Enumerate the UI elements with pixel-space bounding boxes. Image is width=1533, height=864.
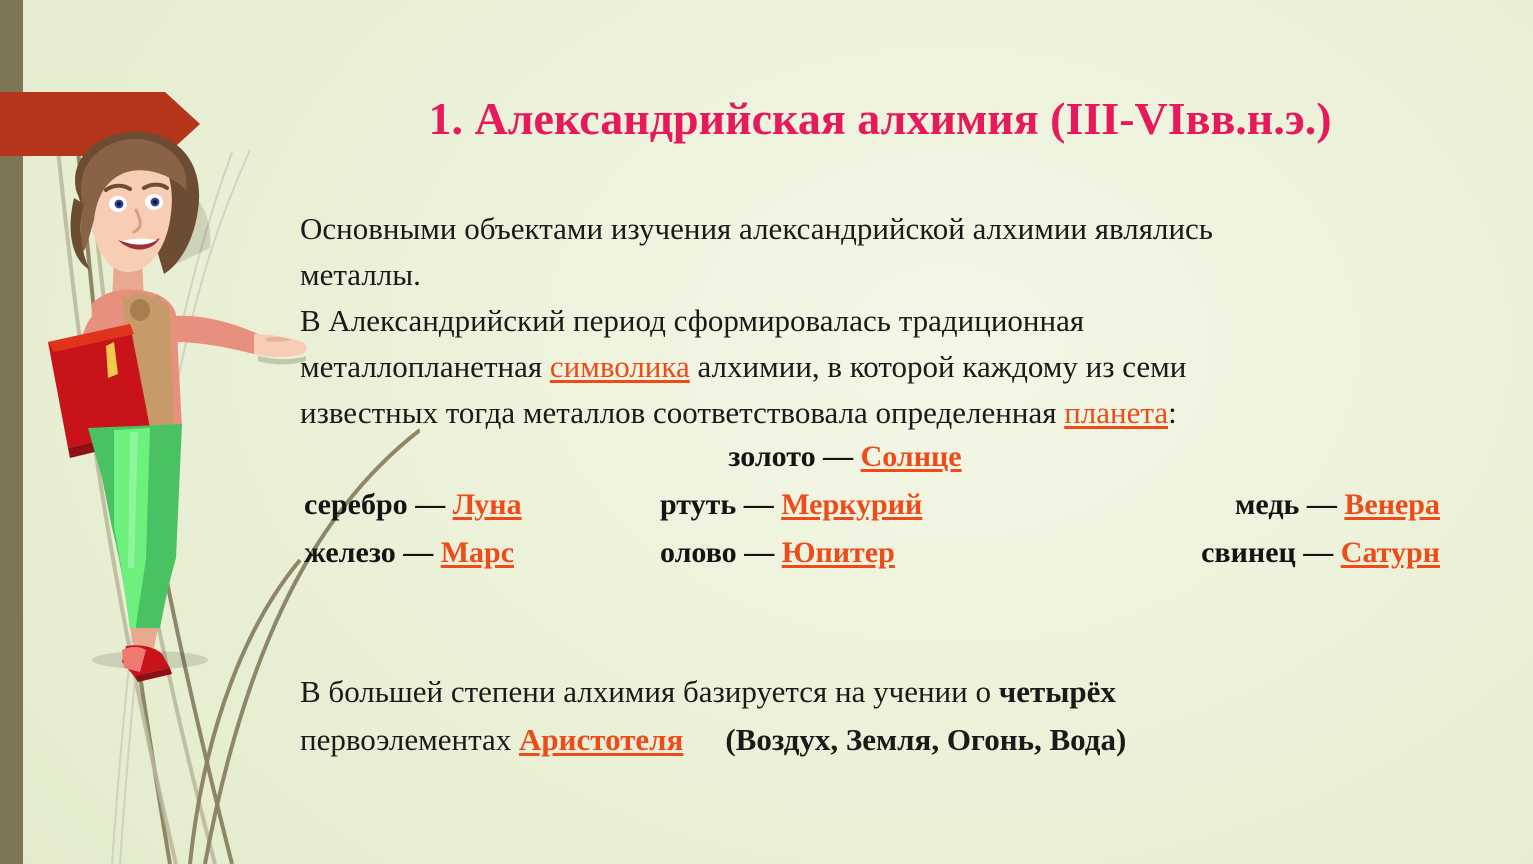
pair-tin-jupiter: олово — Юпитер <box>660 536 1100 570</box>
planet-label: Венера <box>1344 488 1440 521</box>
paragraph-2-text-a: металлопланетная <box>300 349 550 384</box>
highlight-planeta: планета <box>1064 395 1168 430</box>
planet-label: Марс <box>441 536 514 569</box>
dash-separator: — <box>823 440 853 473</box>
metal-label: медь <box>1235 488 1299 521</box>
planet-label: Луна <box>453 488 522 521</box>
dash-separator: — <box>415 488 445 521</box>
planet-label: Сатурн <box>1341 536 1440 569</box>
bottom-text-b: первоэлементах <box>300 722 519 757</box>
pair-mercury-mercury: ртуть — Меркурий <box>660 488 1100 522</box>
table-row: железо — Марс олово — Юпитер свинец — Са… <box>290 536 1440 584</box>
paragraph-2-line-2: металлопланетная символика алхимии, в ко… <box>300 344 1440 390</box>
highlight-aristotel: Аристотеля <box>519 722 683 757</box>
metal-label: олово <box>660 536 737 569</box>
woman-presenter-illustration <box>18 128 328 688</box>
metal-label: свинец <box>1201 536 1296 569</box>
metal-label: ртуть <box>660 488 736 521</box>
pair-copper-venus: медь — Венера <box>1100 488 1440 522</box>
paragraph-3-text-b: : <box>1168 395 1177 430</box>
planet-label: Меркурий <box>781 488 922 521</box>
pair-lead-saturn: свинец — Сатурн <box>1100 536 1440 570</box>
metal-label: золото <box>728 440 815 473</box>
paragraph-1-line-2: металлы. <box>300 252 1440 298</box>
pair-silver-moon: серебро — Луна <box>290 488 660 522</box>
pair-gold-sun: золото — Солнце <box>290 440 1440 474</box>
dash-separator: — <box>1307 488 1337 521</box>
dash-separator: — <box>744 488 774 521</box>
bold-chetyreh: четырёх <box>999 674 1116 709</box>
dash-separator: — <box>744 536 774 569</box>
planet-label: Солнце <box>861 440 962 473</box>
pair-iron-mars: железо — Марс <box>290 536 660 570</box>
slide-canvas: 1. Александрийская алхимия (III-VIвв.н.э… <box>0 0 1533 864</box>
bold-elements-list: (Воздух, Земля, Огонь, Вода) <box>725 722 1126 757</box>
highlight-simvolika: символика <box>550 349 690 384</box>
paragraph-2-line-1: В Александрийский период сформировалась … <box>300 298 1440 344</box>
bottom-text-block: В большей степени алхимия базируется на … <box>300 668 1440 764</box>
dash-separator: — <box>1303 536 1333 569</box>
dash-separator: — <box>403 536 433 569</box>
metal-label: серебро <box>304 488 408 521</box>
planet-label: Юпитер <box>782 536 895 569</box>
red-arrow-banner <box>0 92 200 156</box>
paragraph-2-text-b: алхимии, в которой каждому из семи <box>690 349 1187 384</box>
metal-label: железо <box>304 536 396 569</box>
paragraph-3-text-a: известных тогда металлов соответствовала… <box>300 395 1064 430</box>
body-text-block: Основными объектами изучения александрий… <box>300 206 1440 436</box>
bottom-text-a: В большей степени алхимия базируется на … <box>300 674 999 709</box>
table-row: серебро — Луна ртуть — Меркурий медь — В… <box>290 488 1440 536</box>
table-row: золото — Солнце <box>290 440 1440 488</box>
bottom-line-2: первоэлементах Аристотеля(Воздух, Земля,… <box>300 716 1440 764</box>
paragraph-1-line-1: Основными объектами изучения александрий… <box>300 206 1440 252</box>
paragraph-3-line-1: известных тогда металлов соответствовала… <box>300 390 1440 436</box>
bottom-line-1: В большей степени алхимия базируется на … <box>300 668 1440 716</box>
metal-planet-table: золото — Солнце серебро — Луна ртуть — М… <box>290 440 1440 584</box>
page-title: 1. Александрийская алхимия (III-VIвв.н.э… <box>290 95 1470 143</box>
